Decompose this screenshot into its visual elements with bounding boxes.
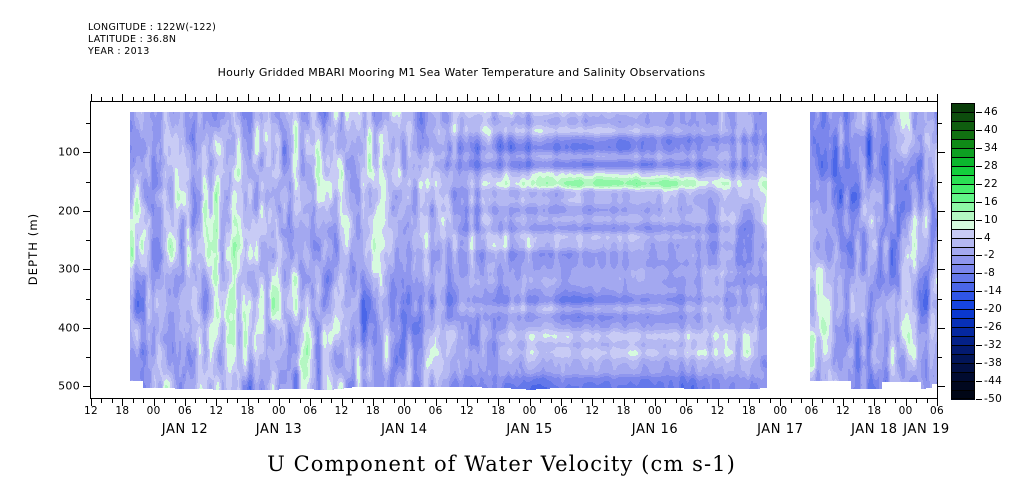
y-axis-tick-label: 400 <box>58 321 80 334</box>
x-axis-hour-label: 12 <box>711 405 725 417</box>
x-axis-tick-top <box>237 97 238 101</box>
x-axis-tick-bottom <box>853 399 854 403</box>
x-axis-tick-bottom <box>791 399 792 403</box>
x-axis-tick-bottom <box>227 399 228 403</box>
x-axis-tick-top <box>300 97 301 101</box>
colorbar-tick <box>976 255 982 256</box>
x-axis-hour-label: 18 <box>241 405 255 417</box>
colorbar-tick <box>976 327 982 328</box>
x-axis-day-label: JAN 15 <box>506 422 553 437</box>
x-axis-tick-bottom <box>175 399 176 403</box>
colorbar-label: 46 <box>984 106 998 118</box>
x-axis-hour-label: 00 <box>773 405 787 417</box>
x-axis-tick-bottom <box>540 399 541 403</box>
x-axis-tick-top <box>540 97 541 101</box>
x-axis-tick-top <box>352 97 353 101</box>
x-axis-tick-top <box>843 94 844 101</box>
x-axis-tick-top <box>488 97 489 101</box>
colorbar-label: -2 <box>984 249 995 261</box>
x-axis-tick-bottom <box>801 399 802 403</box>
x-axis-tick-top <box>216 94 217 101</box>
x-axis-tick-top <box>519 97 520 101</box>
x-axis-day-label: JAN 13 <box>256 422 303 437</box>
x-axis-tick-top <box>373 94 374 101</box>
x-axis-tick-bottom <box>112 399 113 403</box>
x-axis-tick-bottom <box>665 399 666 403</box>
x-axis-tick-top <box>885 97 886 101</box>
x-axis-tick-top <box>665 97 666 101</box>
y-axis-tick-label: 100 <box>58 146 80 159</box>
y-axis-tick-right <box>938 152 945 153</box>
x-axis-tick-top <box>801 97 802 101</box>
x-axis-tick-top <box>906 94 907 101</box>
x-axis-tick-bottom <box>321 399 322 403</box>
colorbar-tick <box>976 273 982 274</box>
y-axis-tick-right <box>938 299 942 300</box>
x-axis-tick-bottom <box>258 399 259 403</box>
y-axis-tick-right <box>938 182 942 183</box>
x-axis-tick-top <box>822 97 823 101</box>
colorbar-tick <box>976 202 982 203</box>
x-axis-tick-top <box>363 97 364 101</box>
x-axis-tick-top <box>509 97 510 101</box>
x-axis-tick-top <box>321 97 322 101</box>
x-axis-day-label: JAN 17 <box>757 422 804 437</box>
colorbar-tick <box>976 184 982 185</box>
x-axis-hour-label: 12 <box>209 405 223 417</box>
x-axis-tick-top <box>697 97 698 101</box>
x-axis-tick-top <box>164 97 165 101</box>
colorbar-tick <box>976 345 982 346</box>
x-axis-tick-top <box>446 97 447 101</box>
x-axis-tick-top <box>812 94 813 101</box>
x-axis-tick-top <box>833 97 834 101</box>
x-axis-tick-top <box>645 97 646 101</box>
x-axis-tick-top <box>728 97 729 101</box>
y-axis-tick-right <box>938 328 945 329</box>
x-axis-hour-label: 18 <box>115 405 129 417</box>
x-axis-tick-bottom <box>571 399 572 403</box>
x-axis-tick-bottom <box>269 399 270 403</box>
x-axis-tick-top <box>195 97 196 101</box>
x-axis-tick-bottom <box>676 399 677 403</box>
x-axis-tick-top <box>676 97 677 101</box>
x-axis-tick-top <box>436 94 437 101</box>
x-axis-hour-label: 12 <box>84 405 98 417</box>
x-axis-tick-top <box>258 97 259 101</box>
x-axis-tick-top <box>185 94 186 101</box>
x-axis-tick-bottom <box>509 399 510 403</box>
x-axis-tick-top <box>279 94 280 101</box>
x-axis-hour-label: 06 <box>178 405 192 417</box>
x-axis-hour-label: 18 <box>366 405 380 417</box>
x-axis-tick-top <box>613 97 614 101</box>
x-axis-tick-top <box>634 97 635 101</box>
x-axis-tick-top <box>718 94 719 101</box>
x-axis-tick-top <box>791 97 792 101</box>
x-axis-tick-bottom <box>916 399 917 403</box>
x-axis-tick-top <box>101 97 102 101</box>
longitude-text: LONGITUDE : 122W(-122) <box>88 22 216 33</box>
x-axis-tick-top <box>175 97 176 101</box>
y-axis-tick-left <box>83 328 90 329</box>
x-axis-tick-top <box>916 97 917 101</box>
x-axis-tick-top <box>561 94 562 101</box>
y-axis-tick-left <box>86 357 90 358</box>
colorbar-label: -38 <box>984 357 1002 369</box>
x-axis-hour-label: 06 <box>554 405 568 417</box>
x-axis-hour-label: 00 <box>272 405 286 417</box>
x-axis-tick-top <box>874 94 875 101</box>
x-axis-tick-top <box>937 94 938 101</box>
x-axis-tick-bottom <box>446 399 447 403</box>
x-axis-tick-bottom <box>394 399 395 403</box>
x-axis-hour-label: 12 <box>836 405 850 417</box>
y-axis-tick-left <box>83 152 90 153</box>
x-axis-hour-label: 00 <box>523 405 537 417</box>
x-axis-tick-bottom <box>885 399 886 403</box>
x-axis-tick-top <box>425 97 426 101</box>
x-axis-day-label: JAN 14 <box>381 422 428 437</box>
x-axis-tick-bottom <box>488 399 489 403</box>
x-axis-tick-bottom <box>383 399 384 403</box>
x-axis-tick-bottom <box>864 399 865 403</box>
x-axis-tick-top <box>707 97 708 101</box>
y-axis-tick-right <box>938 211 945 212</box>
x-axis-tick-bottom <box>415 399 416 403</box>
x-axis-tick-top <box>749 94 750 101</box>
y-axis-tick-left <box>86 182 90 183</box>
x-axis-tick-top <box>624 94 625 101</box>
y-axis-tick-left <box>83 269 90 270</box>
x-axis-tick-top <box>739 97 740 101</box>
x-axis-tick-top <box>269 97 270 101</box>
colorbar-label: 22 <box>984 178 998 190</box>
x-axis-hour-label: 06 <box>930 405 944 417</box>
colorbar-label: -44 <box>984 375 1002 387</box>
x-axis-hour-label: 06 <box>303 405 317 417</box>
colorbar-label: 10 <box>984 214 998 226</box>
colorbar-label: -26 <box>984 321 1002 333</box>
x-axis-tick-top <box>331 97 332 101</box>
x-axis-tick-top <box>927 97 928 101</box>
colorbar-label: -14 <box>984 285 1002 297</box>
colorbar-label: 28 <box>984 160 998 172</box>
x-axis-hour-label: 00 <box>397 405 411 417</box>
x-axis-tick-bottom <box>289 399 290 403</box>
y-axis-tick-right <box>938 240 942 241</box>
x-axis-tick-bottom <box>770 399 771 403</box>
x-axis-tick-top <box>895 97 896 101</box>
x-axis-hour-label: 18 <box>617 405 631 417</box>
colorbar-tick <box>976 381 982 382</box>
x-axis-tick-top <box>133 97 134 101</box>
x-axis-tick-top <box>383 97 384 101</box>
colorbar-label: 16 <box>984 196 998 208</box>
x-axis-tick-bottom <box>425 399 426 403</box>
latitude-text: LATITUDE : 36.8N <box>88 34 176 45</box>
x-axis-tick-bottom <box>477 399 478 403</box>
x-axis-tick-bottom <box>164 399 165 403</box>
x-axis-tick-bottom <box>551 399 552 403</box>
chart-title: Hourly Gridded MBARI Mooring M1 Sea Wate… <box>0 66 1009 79</box>
x-axis-tick-bottom <box>895 399 896 403</box>
x-axis-hour-label: 06 <box>679 405 693 417</box>
x-axis-tick-bottom <box>613 399 614 403</box>
colorbar-tick <box>976 166 982 167</box>
x-axis-tick-top <box>154 94 155 101</box>
x-axis-tick-bottom <box>582 399 583 403</box>
x-axis-tick-top <box>122 94 123 101</box>
colorbar-tick <box>976 148 982 149</box>
chart-page: LONGITUDE : 122W(-122) LATITUDE : 36.8N … <box>0 0 1009 504</box>
x-axis-hour-label: 06 <box>805 405 819 417</box>
colorbar-label: 34 <box>984 142 998 154</box>
x-axis-tick-top <box>551 97 552 101</box>
velocity-field-heatmap <box>91 102 937 398</box>
year-text: YEAR : 2013 <box>88 46 150 57</box>
colorbar-tick <box>976 238 982 239</box>
x-axis-hour-label: 06 <box>429 405 443 417</box>
x-axis-tick-top <box>342 94 343 101</box>
x-axis-tick-top <box>394 97 395 101</box>
x-axis-hour-label: 00 <box>147 405 161 417</box>
x-axis-tick-bottom <box>759 399 760 403</box>
x-axis-tick-top <box>112 97 113 101</box>
x-axis-tick-top <box>603 97 604 101</box>
x-axis-tick-bottom <box>927 399 928 403</box>
x-axis-tick-bottom <box>519 399 520 403</box>
x-axis-tick-top <box>289 97 290 101</box>
x-axis-tick-bottom <box>833 399 834 403</box>
x-axis-tick-bottom <box>101 399 102 403</box>
x-axis-tick-bottom <box>634 399 635 403</box>
x-axis-day-label: JAN 16 <box>632 422 679 437</box>
colorbar-band <box>951 390 975 400</box>
colorbar-label: -8 <box>984 267 995 279</box>
x-axis-hour-label: 18 <box>867 405 881 417</box>
y-axis-tick-right <box>938 269 945 270</box>
x-axis-tick-top <box>770 97 771 101</box>
x-axis-hour-label: 12 <box>335 405 349 417</box>
x-axis-tick-bottom <box>331 399 332 403</box>
y-axis-tick-left <box>83 386 90 387</box>
x-axis-tick-bottom <box>133 399 134 403</box>
x-axis-tick-bottom <box>363 399 364 403</box>
x-axis-day-label: JAN 18 <box>851 422 898 437</box>
x-axis-tick-bottom <box>645 399 646 403</box>
x-axis-tick-top <box>759 97 760 101</box>
x-axis-day-label: JAN 19 <box>903 422 950 437</box>
x-axis-tick-bottom <box>352 399 353 403</box>
metadata-block: LONGITUDE : 122W(-122) LATITUDE : 36.8N … <box>88 22 216 59</box>
y-axis-tick-left <box>86 240 90 241</box>
x-axis-tick-bottom <box>143 399 144 403</box>
depth-axis-label: DEPTH (m) <box>26 213 40 285</box>
x-axis-tick-top <box>143 97 144 101</box>
x-axis-tick-top <box>415 97 416 101</box>
x-axis-hour-label: 00 <box>899 405 913 417</box>
x-axis-tick-top <box>467 94 468 101</box>
plot-area: 1218000612180006121800061218000612180006… <box>90 101 938 399</box>
x-axis-tick-bottom <box>195 399 196 403</box>
y-axis-tick-left <box>83 211 90 212</box>
x-axis-day-label: JAN 12 <box>162 422 209 437</box>
x-axis-tick-top <box>206 97 207 101</box>
y-axis-tick-right <box>938 357 942 358</box>
x-axis-tick-top <box>248 94 249 101</box>
x-axis-tick-top <box>582 97 583 101</box>
x-axis-tick-bottom <box>822 399 823 403</box>
x-axis-tick-bottom <box>707 399 708 403</box>
colorbar-tick <box>976 291 982 292</box>
colorbar-label: -50 <box>984 393 1002 405</box>
colorbar-label: -20 <box>984 303 1002 315</box>
colorbar <box>951 103 975 399</box>
x-axis-tick-top <box>310 94 311 101</box>
y-axis-tick-right <box>938 386 945 387</box>
x-axis-tick-top <box>477 97 478 101</box>
x-axis-hour-label: 18 <box>742 405 756 417</box>
x-axis-tick-bottom <box>697 399 698 403</box>
x-axis-tick-bottom <box>237 399 238 403</box>
x-axis-tick-bottom <box>728 399 729 403</box>
x-axis-tick-top <box>853 97 854 101</box>
x-axis-hour-label: 00 <box>648 405 662 417</box>
y-axis-tick-label: 300 <box>58 263 80 276</box>
y-axis-tick-label: 200 <box>58 204 80 217</box>
x-axis-tick-top <box>227 97 228 101</box>
x-axis-tick-top <box>864 97 865 101</box>
colorbar-tick <box>976 309 982 310</box>
x-axis-tick-top <box>780 94 781 101</box>
x-axis-tick-top <box>592 94 593 101</box>
y-axis-tick-left <box>86 123 90 124</box>
y-axis-tick-left <box>86 299 90 300</box>
x-axis-tick-top <box>498 94 499 101</box>
x-axis-tick-bottom <box>300 399 301 403</box>
colorbar-label: 4 <box>984 232 991 244</box>
x-axis-hour-label: 12 <box>460 405 474 417</box>
x-axis-tick-top <box>686 94 687 101</box>
colorbar-tick <box>976 112 982 113</box>
x-axis-tick-top <box>571 97 572 101</box>
colorbar-label: -32 <box>984 339 1002 351</box>
x-axis-tick-bottom <box>603 399 604 403</box>
x-axis-tick-top <box>530 94 531 101</box>
x-axis-tick-bottom <box>739 399 740 403</box>
x-axis-hour-label: 18 <box>491 405 505 417</box>
y-axis-tick-right <box>938 123 942 124</box>
x-axis-tick-top <box>457 97 458 101</box>
bottom-caption: U Component of Water Velocity (cm s-1) <box>0 452 1009 476</box>
colorbar-tick <box>976 130 982 131</box>
x-axis-tick-top <box>404 94 405 101</box>
x-axis-tick-bottom <box>457 399 458 403</box>
y-axis-tick-label: 500 <box>58 380 80 393</box>
x-axis-hour-label: 12 <box>585 405 599 417</box>
colorbar-tick <box>976 363 982 364</box>
colorbar-tick <box>976 399 982 400</box>
colorbar-tick <box>976 220 982 221</box>
x-axis-tick-top <box>91 94 92 101</box>
x-axis-tick-top <box>655 94 656 101</box>
x-axis-tick-bottom <box>206 399 207 403</box>
colorbar-label: 40 <box>984 124 998 136</box>
